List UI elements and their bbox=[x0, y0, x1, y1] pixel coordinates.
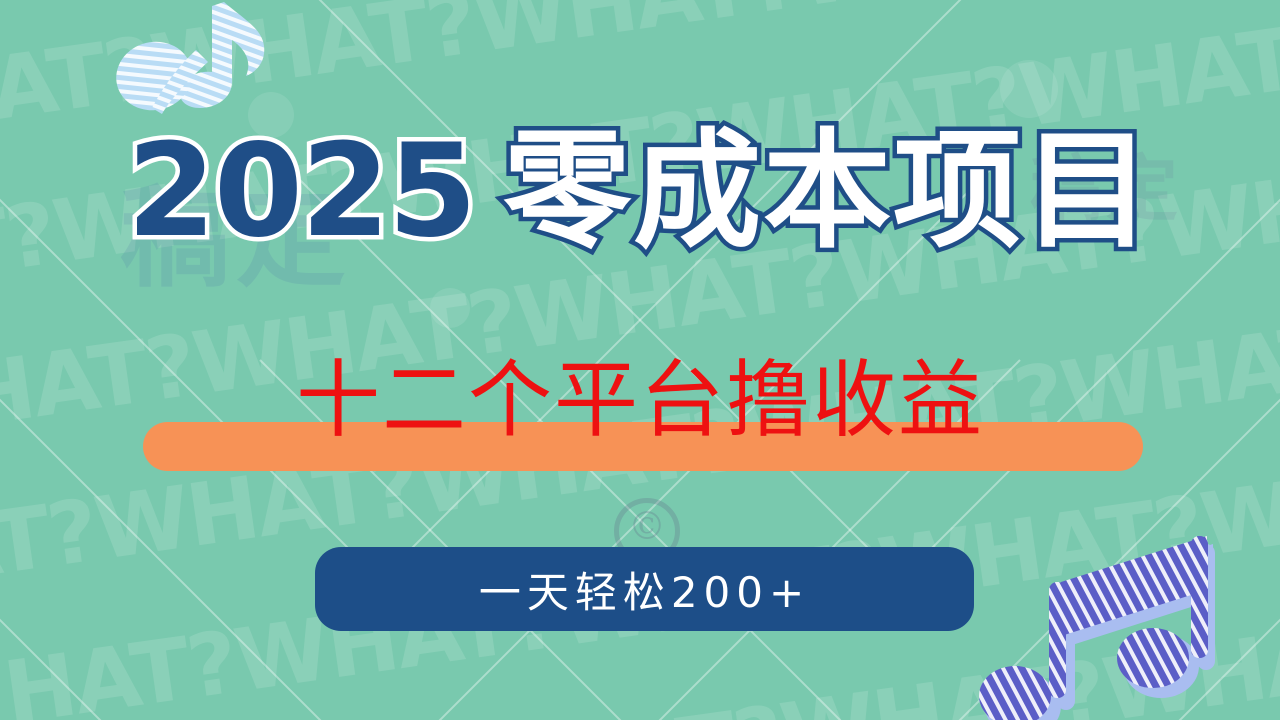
headline: 2025零成本项目 bbox=[0, 128, 1280, 256]
music-note-icon-bottom-right bbox=[955, 528, 1245, 720]
subline-text: 十二个平台撸收益 bbox=[0, 358, 1280, 442]
pill-text: 一天轻松200+ bbox=[315, 547, 974, 631]
music-note-icon-top-left bbox=[96, 0, 286, 116]
poster-canvas: WHAT?WHAT?WHAT?WHAT?WHAT?WHAT?WHAT?WHAT?… bbox=[0, 0, 1280, 720]
headline-year: 2025 bbox=[127, 117, 475, 266]
headline-title: 零成本项目 bbox=[503, 117, 1153, 266]
decorative-dot bbox=[430, 288, 470, 328]
decorative-dot bbox=[1000, 60, 1058, 118]
